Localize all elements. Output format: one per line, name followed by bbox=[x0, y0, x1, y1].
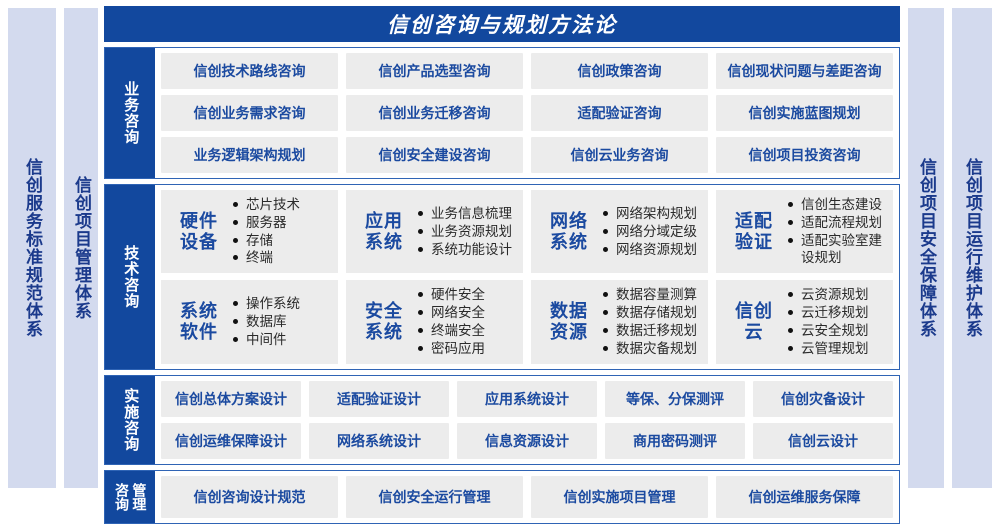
list-item: 网络安全 bbox=[418, 304, 517, 322]
chip-row: 信创运维保障设计 网络系统设计 信息资源设计 商用密码测评 信创云设计 bbox=[161, 423, 893, 459]
section-label-implementation: 实施咨询 bbox=[105, 376, 155, 464]
list-item: 存储 bbox=[233, 232, 332, 250]
card-title: 数据 资源 bbox=[541, 301, 597, 342]
list-item: 数据灾备规划 bbox=[603, 340, 702, 358]
chip-item[interactable]: 信创运维服务保障 bbox=[716, 476, 893, 518]
card-title: 系统 软件 bbox=[171, 301, 227, 342]
chip-item[interactable]: 信创云设计 bbox=[753, 423, 893, 459]
section-label-consulting-management: 管理 咨询 bbox=[105, 471, 155, 523]
pillar-project-management-system: 信创项目管理体系 bbox=[64, 8, 98, 488]
chip-item[interactable]: 网络系统设计 bbox=[309, 423, 449, 459]
section-body-consulting-management: 信创咨询设计规范 信创安全运行管理 信创实施项目管理 信创运维服务保障 bbox=[155, 471, 899, 523]
pillar-label: 信创项目运行维护体系 bbox=[963, 158, 981, 338]
list-item: 系统功能设计 bbox=[418, 241, 517, 259]
card-title: 网络 系统 bbox=[541, 211, 597, 252]
chip-item[interactable]: 信创安全运行管理 bbox=[346, 476, 523, 518]
chip-item[interactable]: 信创现状问题与差距咨询 bbox=[716, 53, 893, 89]
list-item: 网络架构规划 bbox=[603, 205, 702, 223]
chip-item[interactable]: 信创政策咨询 bbox=[531, 53, 708, 89]
card-xinchuang-cloud[interactable]: 信创 云 云资源规划 云迁移规划 云安全规划 云管理规划 bbox=[716, 280, 893, 363]
chip-item[interactable]: 信创安全建设咨询 bbox=[346, 137, 523, 173]
pillar-label: 信创项目安全保障体系 bbox=[917, 158, 935, 338]
chip-item[interactable]: 信创运维保障设计 bbox=[161, 423, 301, 459]
list-item: 操作系统 bbox=[233, 295, 332, 313]
card-title: 信创 云 bbox=[726, 301, 782, 342]
list-item: 终端安全 bbox=[418, 322, 517, 340]
pillar-label: 信创项目管理体系 bbox=[72, 176, 90, 320]
list-item: 云管理规划 bbox=[788, 340, 887, 358]
chip-row: 信创咨询设计规范 信创安全运行管理 信创实施项目管理 信创运维服务保障 bbox=[161, 476, 893, 518]
card-title: 安全 系统 bbox=[356, 301, 412, 342]
list-item: 业务信息梳理 bbox=[418, 205, 517, 223]
section-label-text: 技术咨询 bbox=[122, 245, 139, 309]
list-item: 云安全规划 bbox=[788, 322, 887, 340]
section-body-technical: 硬件 设备 芯片技术 服务器 存储 终端 应用 系统 bbox=[155, 185, 899, 369]
list-item: 密码应用 bbox=[418, 340, 517, 358]
section-body-implementation: 信创总体方案设计 适配验证设计 应用系统设计 等保、分保测评 信创灾备设计 信创… bbox=[155, 376, 899, 464]
section-implementation-consulting: 实施咨询 信创总体方案设计 适配验证设计 应用系统设计 等保、分保测评 信创灾备… bbox=[104, 375, 900, 465]
chip-item[interactable]: 适配验证咨询 bbox=[531, 95, 708, 131]
list-item: 适配流程规划 bbox=[788, 214, 887, 232]
list-item: 云资源规划 bbox=[788, 286, 887, 304]
pillar-label: 信创服务标准规范体系 bbox=[23, 158, 41, 338]
section-label-business: 业务咨询 bbox=[105, 48, 155, 178]
card-data-resource[interactable]: 数据 资源 数据容量测算 数据存储规划 数据迁移规划 数据灾备规划 bbox=[531, 280, 708, 363]
section-consulting-management: 管理 咨询 信创咨询设计规范 信创安全运行管理 信创实施项目管理 信创运维服务保… bbox=[104, 470, 900, 524]
chip-row: 信创业务需求咨询 信创业务迁移咨询 适配验证咨询 信创实施蓝图规划 bbox=[161, 95, 893, 131]
chip-item[interactable]: 信创产品选型咨询 bbox=[346, 53, 523, 89]
card-list: 业务信息梳理 业务资源规划 系统功能设计 bbox=[418, 205, 517, 258]
chip-item[interactable]: 等保、分保测评 bbox=[605, 381, 745, 417]
chip-row: 业务逻辑架构规划 信创安全建设咨询 信创云业务咨询 信创项目投资咨询 bbox=[161, 137, 893, 173]
section-label-text: 业务咨询 bbox=[122, 81, 139, 145]
pillar-service-standard-system: 信创服务标准规范体系 bbox=[8, 8, 56, 488]
list-item: 云迁移规划 bbox=[788, 304, 887, 322]
list-item: 数据库 bbox=[233, 313, 332, 331]
chip-item[interactable]: 信创云业务咨询 bbox=[531, 137, 708, 173]
pillar-project-security-system: 信创项目安全保障体系 bbox=[908, 8, 944, 488]
list-item: 服务器 bbox=[233, 214, 332, 232]
card-system-software[interactable]: 系统 软件 操作系统 数据库 中间件 bbox=[161, 280, 338, 363]
list-item: 适配实验室建设规划 bbox=[788, 232, 887, 268]
chip-row: 信创总体方案设计 适配验证设计 应用系统设计 等保、分保测评 信创灾备设计 bbox=[161, 381, 893, 417]
chip-item[interactable]: 商用密码测评 bbox=[605, 423, 745, 459]
chip-item[interactable]: 信创实施项目管理 bbox=[531, 476, 708, 518]
chip-item[interactable]: 信创灾备设计 bbox=[753, 381, 893, 417]
card-security-system[interactable]: 安全 系统 硬件安全 网络安全 终端安全 密码应用 bbox=[346, 280, 523, 363]
section-label-text-consulting: 咨询 bbox=[114, 483, 129, 511]
card-list: 操作系统 数据库 中间件 bbox=[233, 295, 332, 348]
card-adaptation-verification[interactable]: 适配 验证 信创生态建设 适配流程规划 适配实验室建设规划 bbox=[716, 190, 893, 273]
diagram-title: 信创咨询与规划方法论 bbox=[104, 6, 900, 42]
card-list: 硬件安全 网络安全 终端安全 密码应用 bbox=[418, 286, 517, 357]
list-item: 网络资源规划 bbox=[603, 241, 702, 259]
pillar-project-operation-system: 信创项目运行维护体系 bbox=[952, 8, 992, 488]
card-list: 芯片技术 服务器 存储 终端 bbox=[233, 196, 332, 267]
section-label-text: 实施咨询 bbox=[122, 388, 139, 452]
chip-item[interactable]: 信息资源设计 bbox=[457, 423, 597, 459]
chip-item[interactable]: 应用系统设计 bbox=[457, 381, 597, 417]
chip-item[interactable]: 信创总体方案设计 bbox=[161, 381, 301, 417]
chip-item[interactable]: 信创业务需求咨询 bbox=[161, 95, 338, 131]
chip-item[interactable]: 信创实施蓝图规划 bbox=[716, 95, 893, 131]
section-label-technical: 技术咨询 bbox=[105, 185, 155, 369]
card-application-system[interactable]: 应用 系统 业务信息梳理 业务资源规划 系统功能设计 bbox=[346, 190, 523, 273]
list-item: 中间件 bbox=[233, 331, 332, 349]
card-row: 系统 软件 操作系统 数据库 中间件 安全 系统 bbox=[161, 280, 893, 363]
section-business-consulting: 业务咨询 信创技术路线咨询 信创产品选型咨询 信创政策咨询 信创现状问题与差距咨… bbox=[104, 47, 900, 179]
card-list: 数据容量测算 数据存储规划 数据迁移规划 数据灾备规划 bbox=[603, 286, 702, 357]
chip-item[interactable]: 适配验证设计 bbox=[309, 381, 449, 417]
methodology-diagram: 信创服务标准规范体系 信创项目管理体系 信创项目安全保障体系 信创项目运行维护体… bbox=[0, 0, 1000, 496]
list-item: 硬件安全 bbox=[418, 286, 517, 304]
card-list: 网络架构规划 网络分域定级 网络资源规划 bbox=[603, 205, 702, 258]
list-item: 信创生态建设 bbox=[788, 196, 887, 214]
list-item: 网络分域定级 bbox=[603, 223, 702, 241]
card-title: 适配 验证 bbox=[726, 211, 782, 252]
list-item: 数据迁移规划 bbox=[603, 322, 702, 340]
section-technical-consulting: 技术咨询 硬件 设备 芯片技术 服务器 存储 终端 bbox=[104, 184, 900, 370]
list-item: 数据存储规划 bbox=[603, 304, 702, 322]
card-title: 硬件 设备 bbox=[171, 211, 227, 252]
list-item: 业务资源规划 bbox=[418, 223, 517, 241]
chip-item[interactable]: 业务逻辑架构规划 bbox=[161, 137, 338, 173]
chip-item[interactable]: 信创咨询设计规范 bbox=[161, 476, 338, 518]
chip-item[interactable]: 信创项目投资咨询 bbox=[716, 137, 893, 173]
list-item: 数据容量测算 bbox=[603, 286, 702, 304]
main-column: 信创咨询与规划方法论 业务咨询 信创技术路线咨询 信创产品选型咨询 信创政策咨询… bbox=[104, 6, 900, 490]
card-row: 硬件 设备 芯片技术 服务器 存储 终端 应用 系统 bbox=[161, 190, 893, 273]
card-hardware-device[interactable]: 硬件 设备 芯片技术 服务器 存储 终端 bbox=[161, 190, 338, 273]
card-list: 信创生态建设 适配流程规划 适配实验室建设规划 bbox=[788, 196, 887, 267]
card-network-system[interactable]: 网络 系统 网络架构规划 网络分域定级 网络资源规划 bbox=[531, 190, 708, 273]
section-body-business: 信创技术路线咨询 信创产品选型咨询 信创政策咨询 信创现状问题与差距咨询 信创业… bbox=[155, 48, 899, 178]
section-label-text-management: 管理 bbox=[131, 483, 146, 511]
chip-item[interactable]: 信创技术路线咨询 bbox=[161, 53, 338, 89]
chip-item[interactable]: 信创业务迁移咨询 bbox=[346, 95, 523, 131]
chip-row: 信创技术路线咨询 信创产品选型咨询 信创政策咨询 信创现状问题与差距咨询 bbox=[161, 53, 893, 89]
list-item: 终端 bbox=[233, 249, 332, 267]
card-title: 应用 系统 bbox=[356, 211, 412, 252]
card-list: 云资源规划 云迁移规划 云安全规划 云管理规划 bbox=[788, 286, 887, 357]
list-item: 芯片技术 bbox=[233, 196, 332, 214]
